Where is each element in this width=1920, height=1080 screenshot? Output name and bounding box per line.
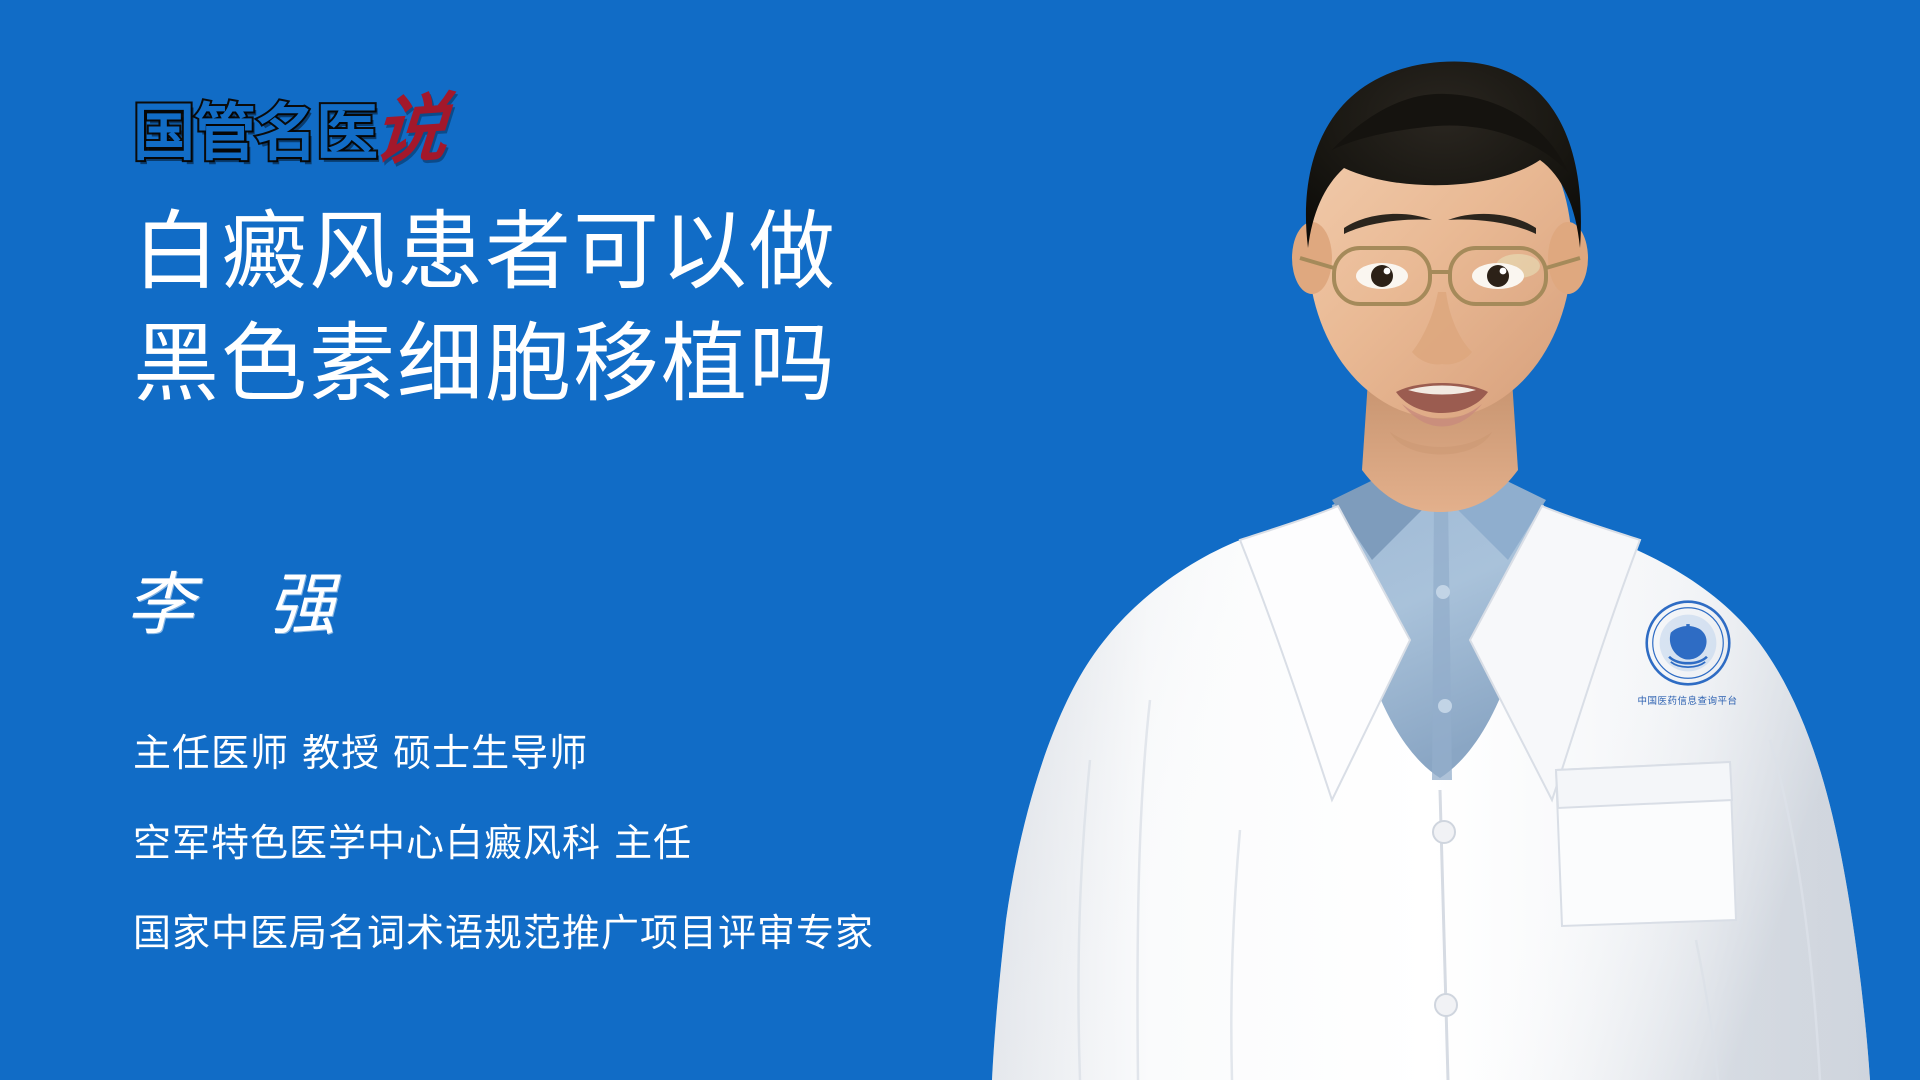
doctor-credentials: 主任医师 教授 硕士生导师 空军特色医学中心白癜风科 主任 国家中医局名词术语规… [133,708,1033,978]
eye-highlight-right [1500,268,1507,275]
poster-canvas: 国管名医 说 白癜风患者可以做 黑色素细胞移植吗 李 强 主任医师 教授 硕士生… [0,0,1920,1080]
title-line-1: 白癜风患者可以做 [133,196,963,308]
credential-line-3: 国家中医局名词术语规范推广项目评审专家 [133,888,1033,978]
doctor-name: 李 强 [126,567,362,645]
shirt-button-1 [1436,585,1450,599]
brand-logo-main-text: 国管名医 [133,100,377,166]
pupil-right [1487,265,1509,287]
coat-button-1 [1433,821,1455,843]
doctor-portrait-illustration [940,0,1920,1080]
doctor-portrait-photo [940,0,1920,1080]
credential-line-1: 主任医师 教授 硕士生导师 [133,708,1033,798]
brand-logo: 国管名医 说 [133,88,445,166]
title-line-2: 黑色素细胞移植吗 [133,308,963,420]
page-title: 白癜风患者可以做 黑色素细胞移植吗 [133,196,963,420]
coat-pocket-flap [1556,762,1732,808]
coat-button-2 [1435,994,1457,1016]
credential-line-2: 空军特色医学中心白癜风科 主任 [133,798,1033,888]
ear-left [1292,222,1332,294]
shirt-button-2 [1438,699,1452,713]
pupil-left [1371,265,1393,287]
brand-logo-accent-text: 说 [371,95,450,166]
ear-right [1548,222,1588,294]
eye-highlight-left [1384,268,1391,275]
